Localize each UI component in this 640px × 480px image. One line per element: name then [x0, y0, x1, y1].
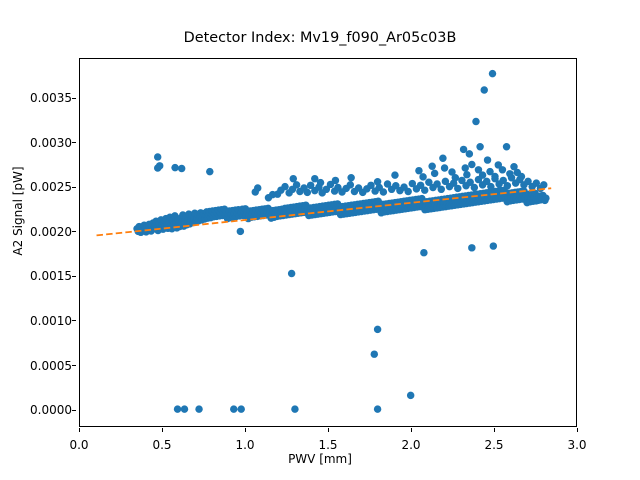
x-tick-mark: [411, 428, 412, 432]
figure-canvas: Detector Index: Mv19_f090_Ar05c03B A2 Si…: [0, 0, 640, 480]
data-point: [374, 326, 381, 333]
data-point: [174, 405, 181, 412]
data-point: [230, 405, 237, 412]
data-point: [391, 171, 398, 178]
x-tick-mark: [162, 428, 163, 432]
x-tick-label: 1.5: [318, 438, 337, 452]
y-tick-label: 0.0030: [30, 136, 72, 150]
data-point: [481, 86, 488, 93]
y-tick-label: 0.0020: [30, 225, 72, 239]
data-point: [420, 249, 427, 256]
data-point: [439, 155, 446, 162]
data-point: [171, 164, 178, 171]
x-tick-mark: [494, 428, 495, 432]
data-point: [428, 163, 435, 170]
x-tick-label: 2.5: [484, 438, 503, 452]
data-point: [347, 181, 354, 188]
x-axis-tick-labels: 0.00.51.01.52.02.53.0: [79, 432, 577, 452]
data-point: [288, 270, 295, 277]
y-tick-mark: [72, 142, 76, 143]
data-point: [484, 156, 491, 163]
data-point: [441, 164, 448, 171]
data-point: [254, 184, 261, 191]
y-tick-label: 0.0005: [30, 359, 72, 373]
y-axis-tick-labels: 0.00000.00050.00100.00150.00200.00250.00…: [0, 58, 72, 427]
data-point: [518, 173, 525, 180]
y-tick-label: 0.0025: [30, 180, 72, 194]
y-tick-label: 0.0010: [30, 314, 72, 328]
data-point: [438, 186, 445, 193]
data-point: [332, 177, 339, 184]
y-tick-label: 0.0035: [30, 91, 72, 105]
x-tick-mark: [577, 428, 578, 432]
y-tick-mark: [72, 187, 76, 188]
data-point: [468, 161, 475, 168]
data-point: [487, 183, 494, 190]
data-point: [503, 143, 510, 150]
data-point: [347, 174, 354, 181]
x-tick-label: 2.0: [401, 438, 420, 452]
x-tick-label: 0.5: [152, 438, 171, 452]
y-tick-label: 0.0015: [30, 269, 72, 283]
data-point: [291, 405, 298, 412]
y-tick-mark: [72, 98, 76, 99]
plot-area: [79, 58, 577, 427]
data-point: [304, 189, 311, 196]
data-point: [407, 392, 414, 399]
y-tick-mark: [72, 320, 76, 321]
data-point: [154, 164, 161, 171]
data-point: [479, 171, 486, 178]
y-tick-mark: [72, 410, 76, 411]
data-point: [471, 184, 478, 191]
y-tick-label: 0.0000: [30, 403, 72, 417]
data-point: [421, 186, 428, 193]
x-tick-label: 0.0: [69, 438, 88, 452]
data-point: [206, 168, 213, 175]
data-point: [461, 164, 468, 171]
data-point: [178, 165, 185, 172]
data-point: [499, 166, 506, 173]
data-point: [371, 350, 378, 357]
data-point: [317, 179, 324, 186]
x-tick-mark: [245, 428, 246, 432]
data-point: [404, 188, 411, 195]
data-point: [490, 242, 497, 249]
data-point: [269, 191, 276, 198]
x-tick-mark: [328, 428, 329, 432]
data-point: [542, 194, 549, 201]
data-point: [181, 405, 188, 412]
data-point: [472, 118, 479, 125]
data-point: [374, 178, 381, 185]
data-point: [466, 150, 473, 157]
data-point: [281, 183, 288, 190]
data-point: [504, 182, 511, 189]
scatter-plot-svg: [80, 59, 576, 426]
data-point: [415, 167, 422, 174]
data-point: [463, 171, 470, 178]
y-tick-mark: [72, 276, 76, 277]
y-tick-mark: [72, 231, 76, 232]
data-point: [491, 173, 498, 180]
data-point: [506, 170, 513, 177]
data-point: [419, 173, 426, 180]
data-point: [195, 405, 202, 412]
data-point: [454, 185, 461, 192]
data-point: [431, 170, 438, 177]
data-point: [237, 405, 244, 412]
data-point: [380, 188, 387, 195]
y-tick-mark: [72, 365, 76, 366]
x-axis-label: PWV [mm]: [0, 452, 640, 466]
data-point: [452, 174, 459, 181]
data-point: [154, 153, 161, 160]
data-point: [237, 228, 244, 235]
x-tick-label: 1.0: [235, 438, 254, 452]
x-tick-mark: [79, 428, 80, 432]
data-point: [489, 70, 496, 77]
data-point: [540, 181, 547, 188]
page-title: Detector Index: Mv19_f090_Ar05c03B: [0, 30, 640, 46]
data-point: [476, 143, 483, 150]
data-point: [374, 405, 381, 412]
scatter-points: [133, 70, 549, 413]
x-tick-label: 3.0: [567, 438, 586, 452]
data-point: [290, 175, 297, 182]
data-point: [468, 244, 475, 251]
